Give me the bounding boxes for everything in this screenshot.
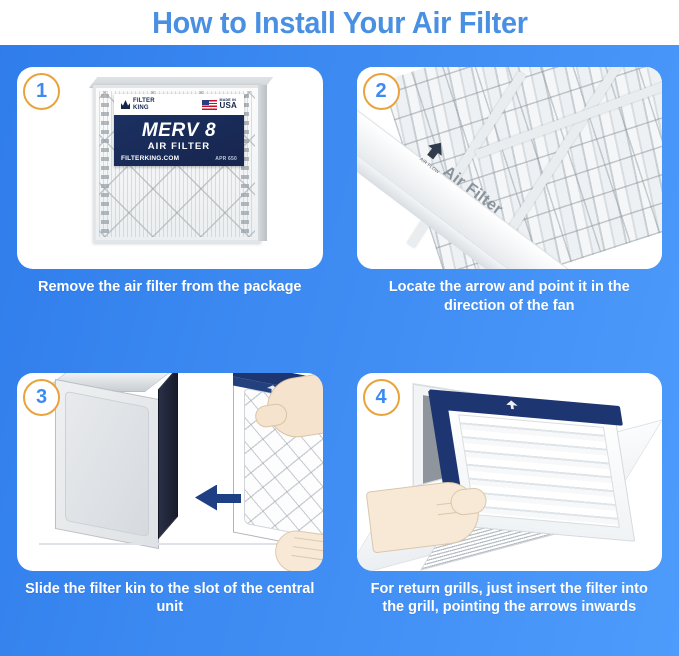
central-unit-slot <box>158 373 178 540</box>
step-3-badge: 3 <box>23 379 60 416</box>
step-1-illustration: FILTER KING MADE IN USA <box>17 67 323 269</box>
step-1-badge: 1 <box>23 73 60 110</box>
step-4-card: 4 <box>357 373 663 571</box>
page-title: How to Install Your Air Filter <box>152 5 528 41</box>
filter-frame: FILTER KING MADE IN USA <box>93 85 261 243</box>
made-in-usa-text: MADE IN USA <box>220 99 238 111</box>
step-2: 2 AIR FLOW Air Filter <box>340 45 679 351</box>
step-3-caption: Slide the filter kin to the slot of the … <box>17 580 323 618</box>
step-4-caption: For return grills, just insert the filte… <box>357 580 663 618</box>
header-bar: How to Install Your Air Filter <box>0 0 679 45</box>
label-header: FILTER KING MADE IN USA <box>114 94 244 115</box>
filter-king-logo: FILTER KING <box>121 98 155 111</box>
filter-corner-photo: AIR FLOW Air Filter <box>357 67 663 269</box>
apr-rating: APR 650 <box>215 156 237 162</box>
step-2-badge: 2 <box>363 73 400 110</box>
brand-line-1: FILTER <box>133 98 155 104</box>
step-2-caption: Locate the arrow and point it in the dir… <box>357 278 663 316</box>
merv-rating: MERV 8 <box>114 120 244 142</box>
arrow-head <box>195 485 217 511</box>
country-label: USA <box>220 102 238 110</box>
step-3-illustration <box>17 373 323 571</box>
step-4: 4 <box>340 351 679 656</box>
central-unit-panel <box>65 390 149 536</box>
filter-frame-tabs-left <box>101 94 109 234</box>
hand-knuckle-lines <box>436 500 464 505</box>
website-url: FILTERKING.COM <box>121 155 179 162</box>
filter-side-edge <box>258 85 267 241</box>
step-3: 3 <box>0 351 340 656</box>
usa-flag-icon <box>202 100 217 110</box>
step-4-illustration <box>357 373 663 571</box>
step-4-badge: 4 <box>363 379 400 416</box>
step-1: 1 <box>0 45 340 351</box>
product-label: FILTER KING MADE IN USA <box>114 94 244 166</box>
crown-icon <box>121 100 130 109</box>
brand-line-2: KING <box>133 105 149 111</box>
steps-grid: 1 <box>0 45 679 656</box>
infographic-root: How to Install Your Air Filter 1 <box>0 0 679 656</box>
step-2-card: 2 AIR FLOW Air Filter <box>357 67 663 269</box>
brand-name: FILTER KING <box>133 98 155 111</box>
insert-direction-arrow <box>195 485 241 511</box>
label-footer: FILTERKING.COM APR 650 <box>121 155 237 162</box>
product-subtitle: AIR FILTER <box>114 141 244 152</box>
air-filter-product-photo: FILTER KING MADE IN USA <box>89 75 269 247</box>
step-1-caption: Remove the air filter from the package <box>17 278 323 297</box>
step-3-card: 3 <box>17 373 323 571</box>
central-unit-body <box>55 378 159 548</box>
made-in-usa-badge: MADE IN USA <box>202 99 237 111</box>
step-1-card: 1 <box>17 67 323 269</box>
step-2-illustration: AIR FLOW Air Filter <box>357 67 663 269</box>
